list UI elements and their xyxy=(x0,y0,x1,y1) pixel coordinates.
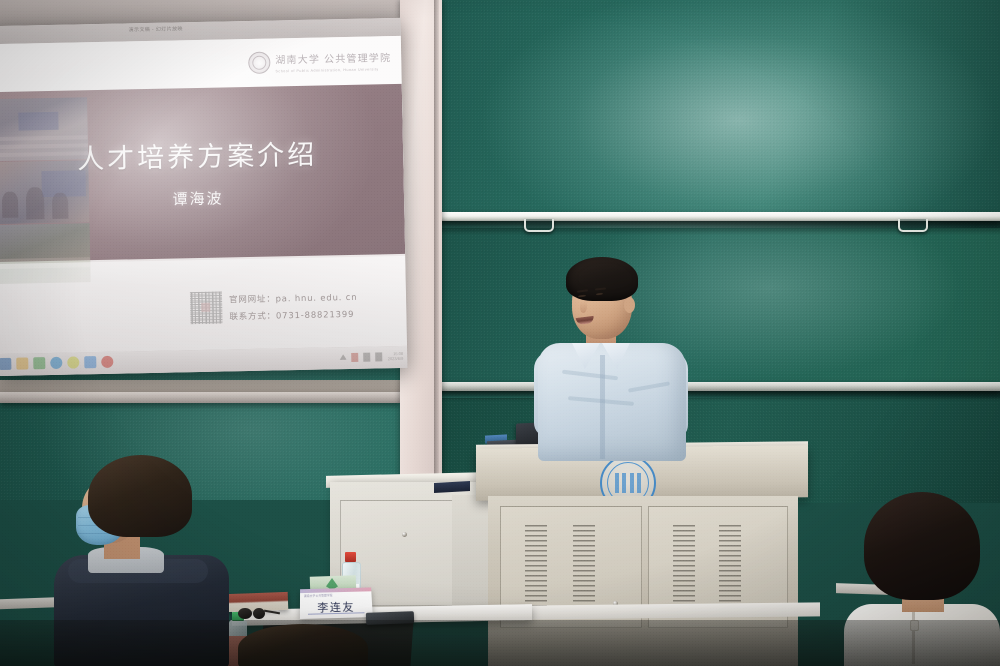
chevron-up-icon[interactable] xyxy=(340,353,347,362)
network-icon[interactable] xyxy=(364,352,371,361)
audience-left-hair xyxy=(88,455,192,537)
projection-screen: 演示文稿 - 幻灯片放映 正在演讲 观众视图 湖南大学 公共管理学院 Schoo… xyxy=(0,18,407,376)
vent-louvers-3 xyxy=(673,525,695,613)
clock-date: 2023/6/9 xyxy=(388,356,404,361)
slide-footer: 官网网址：pa. hnu. edu. cn 联系方式：0731-88821399 xyxy=(0,256,407,354)
chalkboard-panel-upper xyxy=(438,0,1000,214)
recorder-icon[interactable] xyxy=(101,356,113,368)
audience-right-hair xyxy=(864,492,980,600)
taskbar-tray[interactable]: 15:08 2023/6/9 xyxy=(340,351,404,362)
university-logo: 湖南大学 公共管理学院 School of Public Administrat… xyxy=(248,48,391,74)
cabinet-lock-icon[interactable] xyxy=(402,532,407,537)
chalk-tray xyxy=(0,392,400,403)
window-tab-label: 演示文稿 - 幻灯片放映 xyxy=(129,25,183,33)
university-seal-icon xyxy=(248,51,270,73)
vent-louvers-1 xyxy=(525,525,547,613)
pillar-edge-shadow xyxy=(434,0,439,500)
edge-icon[interactable] xyxy=(50,357,62,369)
nameplate-accent-bar xyxy=(300,587,371,593)
taskbar-icon-group[interactable] xyxy=(0,356,113,370)
speaker-ear xyxy=(624,297,635,313)
slide-title: 人才培养方案介绍 xyxy=(0,131,403,178)
taskbar-clock[interactable]: 15:08 2023/6/9 xyxy=(388,351,404,361)
folder-icon[interactable] xyxy=(16,357,28,369)
chrome-icon[interactable] xyxy=(67,356,79,368)
qr-code-icon xyxy=(190,292,223,325)
speaker-shirt xyxy=(538,343,686,461)
nameplate-subtitle: 湖南大学公共管理学院 xyxy=(304,593,333,598)
name-tent-card: 湖南大学公共管理学院 李连友 xyxy=(300,587,373,619)
slide-content: 湖南大学 公共管理学院 School of Public Administrat… xyxy=(0,36,407,354)
projected-slide-surface: 演示文稿 - 幻灯片放映 正在演讲 观众视图 湖南大学 公共管理学院 Schoo… xyxy=(0,18,407,376)
speaker-shirt-placket xyxy=(600,355,605,459)
slide-website-line: 官网网址：pa. hnu. edu. cn xyxy=(229,291,358,306)
chalkboard-clip-left xyxy=(524,219,554,232)
slide-contact-line: 联系方式：0731-88821399 xyxy=(229,308,354,323)
cable-junction-box xyxy=(434,481,470,493)
speaker-person xyxy=(520,255,700,455)
institution-name-cn: 湖南大学 公共管理学院 xyxy=(275,53,391,66)
volume-icon[interactable] xyxy=(352,352,359,361)
ime-icon[interactable] xyxy=(376,352,383,361)
mail-icon[interactable] xyxy=(84,356,96,368)
file-explorer-icon[interactable] xyxy=(0,358,11,370)
lecture-hall-photo: 演示文稿 - 幻灯片放映 正在演讲 观众视图 湖南大学 公共管理学院 Schoo… xyxy=(0,0,1000,666)
cabinet-side-column xyxy=(452,495,492,615)
vent-louvers-2 xyxy=(573,525,595,613)
gallery-icon[interactable] xyxy=(33,357,45,369)
floor-shadow xyxy=(0,620,1000,666)
vent-louvers-4 xyxy=(719,525,741,613)
chalkboard-clip-right xyxy=(898,219,928,232)
